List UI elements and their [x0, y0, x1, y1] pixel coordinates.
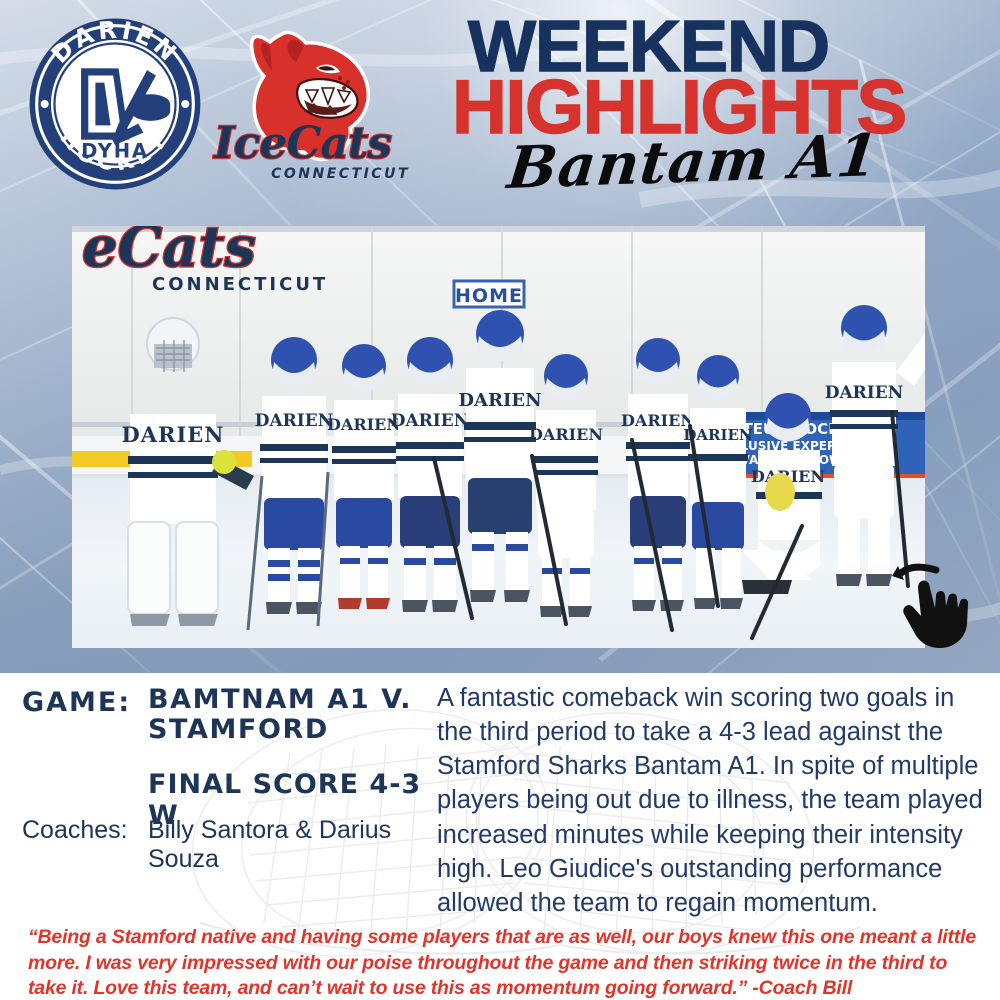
headline-team-script: Bantam A1: [505, 122, 993, 197]
headline-block: WEEKEND HIGHLIGHTS Bantam A1: [468, 14, 988, 197]
game-label: GAME:: [22, 687, 131, 718]
team-photo: eCats CONNECTICUT HOME ATEUR HOCKE CLUSI…: [72, 226, 925, 648]
darien-hockey-crest-icon: DARIEN HOCKEY EST.1973 DYHA: [26, 15, 204, 193]
svg-text:CONNECTICUT: CONNECTICUT: [152, 274, 328, 295]
pointing-hand-swipe-icon[interactable]: [888, 552, 992, 656]
svg-text:DARIEN: DARIEN: [122, 422, 225, 447]
svg-text:DARIEN: DARIEN: [255, 411, 334, 431]
svg-text:HOME: HOME: [455, 285, 523, 307]
svg-text:IceCats: IceCats: [212, 118, 391, 169]
svg-text:CONNECTICUT: CONNECTICUT: [271, 166, 410, 182]
coach-quote: “Being a Stamford native and having some…: [28, 925, 976, 1000]
icecats-cat-head-icon: IceCats CONNECTICUT: [212, 20, 417, 188]
svg-text:DARIEN: DARIEN: [529, 425, 603, 444]
game-value: BAMTNAM A1 V. STAMFORD: [148, 685, 428, 745]
hero-panel: DARIEN HOCKEY EST.1973 DYHA: [0, 0, 1000, 673]
coaches-value: Billy Santora & Darius Souza: [148, 816, 428, 874]
game-info-block: GAME: BAMTNAM A1 V. STAMFORD FINAL SCORE…: [0, 673, 430, 933]
svg-text:DARIEN: DARIEN: [391, 411, 470, 431]
team-photo-image: eCats CONNECTICUT HOME ATEUR HOCKE CLUSI…: [72, 226, 925, 648]
details-panel: GAME: BAMTNAM A1 V. STAMFORD FINAL SCORE…: [0, 673, 1000, 1000]
svg-text:eCats: eCats: [82, 226, 256, 280]
game-recap-text: A fantastic comeback win scoring two goa…: [437, 681, 987, 920]
svg-text:DYHA: DYHA: [81, 139, 149, 162]
coaches-label: Coaches:: [22, 816, 128, 845]
svg-text:DARIEN: DARIEN: [458, 390, 541, 411]
svg-text:DARIEN: DARIEN: [825, 383, 904, 403]
